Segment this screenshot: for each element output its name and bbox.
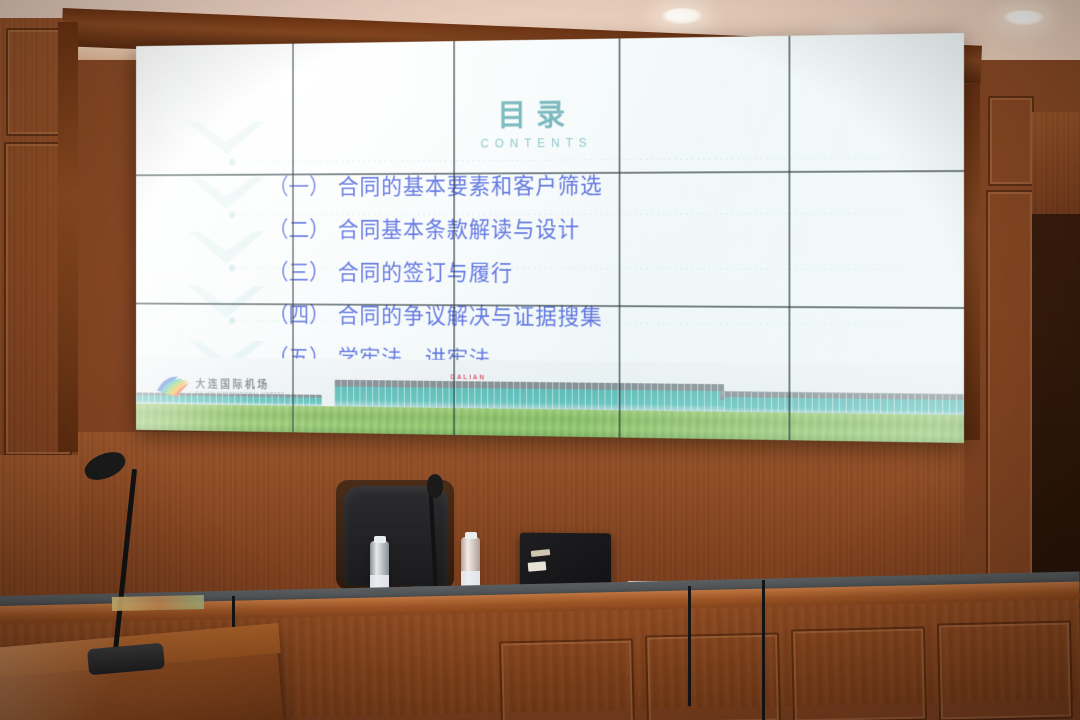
videowall-bezel [292,44,294,433]
list-item-number: （四） [268,296,330,329]
terminal-sign-text: DALIAN [450,374,485,381]
wall-panel-inset [988,96,1034,186]
laptop-sticker [528,561,547,572]
divider-dot [229,212,235,219]
microphone-head [427,474,443,498]
list-item-number: （二） [268,211,330,243]
desk-panel-inset [499,638,635,720]
videowall-frame-left [58,22,78,452]
videowall-bezel [619,38,621,437]
slide-title-en: CONTENTS [136,133,964,153]
desk-panel-inset [937,620,1073,720]
airport-logo-en: DALIAN INTERNATIONAL AIRPORT [196,393,285,399]
video-wall: 目录 CONTENTS （一） 合同的基本要素和客户筛选 （二） 合同基本条款解… [136,33,964,443]
ceiling-downlight [660,8,704,25]
airport-logo: 大连国际机场 DALIAN INTERNATIONAL AIRPORT [155,374,284,400]
list-item: （四） 合同的争议解决与证据搜集 [268,291,914,339]
airport-logo-mark-icon [155,374,190,399]
wall-panel-inset [986,190,1034,594]
list-item-label: 合同基本条款解读与设计 [338,210,580,243]
desk-papers [112,595,204,611]
divider-dot [229,159,235,166]
presentation-slide: 目录 CONTENTS （一） 合同的基本要素和客户筛选 （二） 合同基本条款解… [136,33,964,443]
airport-logo-text: 大连国际机场 DALIAN INTERNATIONAL AIRPORT [196,376,285,398]
bottle-cap [374,536,386,543]
wall-header-right [1032,112,1080,220]
chevron-decoration-icon [189,231,265,263]
list-item-label: 合同的签订与履行 [338,254,513,287]
list-item: （二） 合同基本条款解读与设计 [268,204,914,249]
divider-dot [229,317,235,324]
airport-logo-cn: 大连国际机场 [196,379,270,391]
chevron-decoration-icon [189,177,265,209]
list-item-label: 合同的争议解决与证据搜集 [338,297,603,331]
desk-panel-inset [791,626,927,720]
list-item: （一） 合同的基本要素和客户筛选 [268,159,914,206]
list-item-number: （三） [268,254,330,286]
doorway-recess [1032,214,1080,594]
videowall-bezel [453,41,455,435]
conference-room-photo: 目录 CONTENTS （一） 合同的基本要素和客户筛选 （二） 合同基本条款解… [0,0,1080,720]
slide-contents-list: （一） 合同的基本要素和客户筛选 （二） 合同基本条款解读与设计 （三） 合同的… [268,159,914,383]
videowall-bezel [788,36,790,440]
ceiling-downlight [1002,10,1046,26]
slide-photo-band: DALIAN [136,357,964,443]
slide-title: 目录 CONTENTS [136,85,964,153]
slide-title-cn: 目录 [497,97,575,132]
divider-dot [229,264,235,271]
bottle-cap [465,532,477,539]
list-item: （三） 合同的签订与履行 [268,248,914,293]
